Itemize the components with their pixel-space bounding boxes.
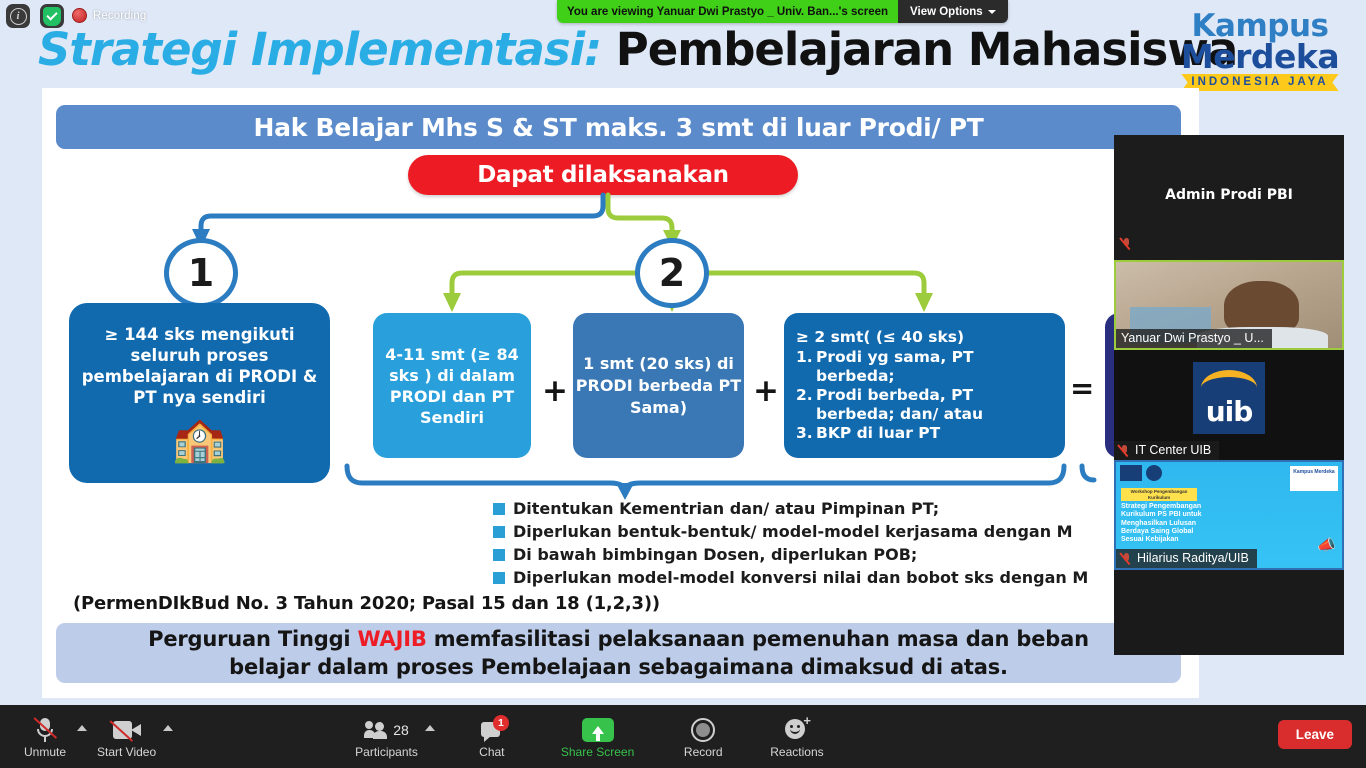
slide-footer-band: Perguruan Tinggi WAJIB memfasilitasi pel…: [56, 623, 1181, 683]
bullet-text: Diperlukan bentuk-bentuk/ model-model ke…: [513, 522, 1073, 542]
reactions-button[interactable]: + Reactions: [764, 705, 829, 768]
uib-logo-icon: uib: [1193, 362, 1265, 434]
bullet-item: Ditentukan Kementrian dan/ atau Pimpinan…: [493, 499, 1193, 519]
mute-label: Unmute: [24, 745, 66, 759]
bullet-square-icon: [493, 549, 505, 561]
step-node-1: 1: [164, 238, 238, 308]
reactions-label: Reactions: [770, 745, 823, 759]
bullet-item: Diperlukan bentuk-bentuk/ model-model ke…: [493, 522, 1193, 542]
audio-options-chevron-icon[interactable]: [77, 725, 87, 731]
share-screen-label: Share Screen: [561, 745, 634, 759]
video-tile-it-center-uib[interactable]: uib IT Center UIB: [1114, 350, 1344, 460]
chat-button[interactable]: 1 Chat: [461, 705, 523, 768]
bullet-square-icon: [493, 526, 505, 538]
video-tile-hilarius-raditya[interactable]: Kampus Merdeka Workshop Pengembangan Kur…: [1114, 460, 1344, 570]
school-building-icon: 🏫: [79, 417, 320, 463]
bullet-text: Ditentukan Kementrian dan/ atau Pimpinan…: [513, 499, 939, 519]
slide-title-bold: Pembelajaran Mahasiswa: [601, 23, 1237, 76]
mute-button[interactable]: Unmute: [14, 705, 76, 768]
camera-off-icon: [113, 721, 141, 739]
box-option-1-text: ≥ 144 sks mengikuti seluruh proses pembe…: [79, 324, 320, 408]
recording-indicator: Recording: [72, 8, 146, 23]
kampus-merdeka-mini-logo: Kampus Merdeka: [1290, 466, 1338, 491]
microphone-muted-icon: [1121, 237, 1134, 252]
logo-ribbon: INDONESIA JAYA: [1181, 74, 1338, 91]
record-circle-icon: [691, 718, 715, 742]
red-pill-text: Dapat dilaksanakan: [477, 162, 729, 188]
zoom-toolbar: Unmute Start Video 28: [0, 705, 1366, 768]
kemdikbud-mini-logo-icon: [1146, 465, 1162, 481]
bullet-item: Diperlukan model-model konversi nilai da…: [493, 568, 1193, 588]
step-node-2: 2: [635, 238, 709, 308]
box-option-4-item: 2.Prodi berbeda, PT berbeda; dan/ atau: [796, 386, 1053, 424]
chat-label: Chat: [479, 745, 504, 759]
video-tile-name: Yanuar Dwi Prastyo _ U...: [1121, 331, 1264, 345]
view-options-label: View Options: [910, 6, 983, 18]
box-option-4: ≥ 2 smt( (≤ 40 sks) 1.Prodi yg sama, PT …: [784, 313, 1065, 458]
box-option-4-item: 3.BKP di luar PT: [796, 424, 1053, 443]
bullet-text: Di bawah bimbingan Dosen, diperlukan POB…: [513, 545, 917, 565]
participants-label: Participants: [355, 745, 418, 759]
item-text: Prodi berbeda, PT berbeda; dan/ atau: [816, 386, 1053, 424]
uib-mini-logo-icon: [1120, 465, 1142, 481]
share-screen-button[interactable]: Share Screen: [555, 705, 640, 768]
plus-sign-1: +: [542, 373, 568, 409]
plus-sign-2: +: [753, 373, 779, 409]
video-options-chevron-icon[interactable]: [163, 725, 173, 731]
video-tile-label: Hilarius Raditya/UIB: [1116, 549, 1257, 568]
video-label: Start Video: [97, 745, 156, 759]
record-label: Record: [684, 745, 723, 759]
bullet-square-icon: [493, 503, 505, 515]
video-tile-name: Hilarius Raditya/UIB: [1137, 551, 1249, 565]
chevron-down-icon: [988, 10, 996, 14]
video-tile-admin-prodi-pbi[interactable]: Admin Prodi PBI: [1114, 135, 1344, 260]
box-option-4-item: 1.Prodi yg sama, PT berbeda;: [796, 348, 1053, 386]
microphone-muted-icon: [37, 718, 53, 742]
chat-unread-badge: 1: [493, 715, 509, 731]
slide-title-italic: Strategi Implementasi:: [38, 23, 601, 76]
box-option-3: 1 smt (20 sks) di PRODI berbeda PT Sama): [573, 313, 744, 458]
participant-video-strip: Admin Prodi PBI Yanuar Dwi Prastyo _ U..…: [1114, 135, 1344, 655]
footer-text-a: Perguruan Tinggi: [148, 627, 357, 651]
microphone-muted-icon: [1121, 552, 1132, 565]
video-tile-name: IT Center UIB: [1135, 443, 1211, 457]
slide-banner: Hak Belajar Mhs S & ST maks. 3 smt di lu…: [56, 105, 1181, 149]
bullet-square-icon: [493, 572, 505, 584]
equals-sign: =: [1070, 371, 1094, 405]
uib-logo-text: uib: [1206, 395, 1253, 434]
share-screen-up-arrow-icon: [582, 718, 614, 742]
view-options-button[interactable]: View Options: [898, 0, 1008, 23]
item-number: 2.: [796, 386, 811, 424]
record-button[interactable]: Record: [672, 705, 734, 768]
slide-banner-text: Hak Belajar Mhs S & ST maks. 3 smt di lu…: [254, 113, 984, 142]
leave-button[interactable]: Leave: [1278, 720, 1352, 749]
info-icon[interactable]: i: [6, 4, 30, 28]
box-option-1: ≥ 144 sks mengikuti seluruh proses pembe…: [69, 303, 330, 483]
participants-options-chevron-icon[interactable]: [425, 725, 435, 731]
item-number: 1.: [796, 348, 811, 386]
microphone-muted-icon: [1119, 444, 1130, 457]
footer-line-1: Perguruan Tinggi WAJIB memfasilitasi pel…: [148, 625, 1089, 653]
screen-share-banner: You are viewing Yanuar Dwi Prastyo _ Uni…: [557, 0, 1008, 23]
video-tile-label: Yanuar Dwi Prastyo _ U...: [1116, 329, 1272, 348]
item-text: BKP di luar PT: [816, 424, 940, 443]
box-option-4-heading: ≥ 2 smt( (≤ 40 sks): [796, 328, 1053, 347]
video-tile-label: IT Center UIB: [1114, 441, 1219, 460]
share-notice-text: You are viewing Yanuar Dwi Prastyo _ Uni…: [557, 0, 898, 23]
regulation-citation: (PermenDIkBud No. 3 Tahun 2020; Pasal 15…: [73, 593, 660, 614]
recording-dot-icon: [72, 8, 87, 23]
chat-bubble-icon: 1: [480, 720, 504, 740]
poster-badge-text: Workshop Pengembangan Kurikulum: [1121, 488, 1197, 501]
slide-title: Strategi Implementasi: Pembelajaran Maha…: [38, 22, 1158, 78]
footer-text-b: memfasilitasi pelaksanaan pemenuhan masa…: [427, 627, 1089, 651]
zoom-meeting-window: i Recording You are viewing Yanuar Dwi P…: [0, 0, 1366, 768]
red-pill-callout: Dapat dilaksanakan: [408, 155, 798, 195]
start-video-button[interactable]: Start Video: [91, 705, 162, 768]
shared-slide-canvas: Hak Belajar Mhs S & ST maks. 3 smt di lu…: [42, 88, 1199, 698]
item-text: Prodi yg sama, PT berbeda;: [816, 348, 1053, 386]
item-number: 3.: [796, 424, 811, 443]
video-tile-name: Admin Prodi PBI: [1114, 135, 1344, 203]
footer-line-2: belajar dalam proses Pembelajaan sebagai…: [229, 653, 1008, 681]
video-tile-yanuar-dwi-prastyo[interactable]: Yanuar Dwi Prastyo _ U...: [1114, 260, 1344, 350]
people-icon: [364, 721, 389, 738]
megaphone-icon: 📣: [1317, 536, 1336, 554]
poster-title-text: Strategi Pengembangan Kurikulum PS PBI u…: [1121, 503, 1207, 544]
footer-text-wajib: WAJIB: [358, 627, 427, 651]
bullet-item: Di bawah bimbingan Dosen, diperlukan POB…: [493, 545, 1193, 565]
box-option-2: 4-11 smt (≥ 84 sks ) di dalam PRODI dan …: [373, 313, 531, 458]
recording-label: Recording: [93, 10, 146, 22]
bullet-text: Diperlukan model-model konversi nilai da…: [513, 568, 1088, 588]
smiley-plus-icon: +: [785, 719, 809, 741]
participants-button[interactable]: 28 Participants: [349, 705, 424, 768]
logo-line-2: Merdeka: [1160, 41, 1360, 72]
bullet-list: Ditentukan Kementrian dan/ atau Pimpinan…: [493, 499, 1193, 591]
participants-count: 28: [393, 722, 409, 738]
